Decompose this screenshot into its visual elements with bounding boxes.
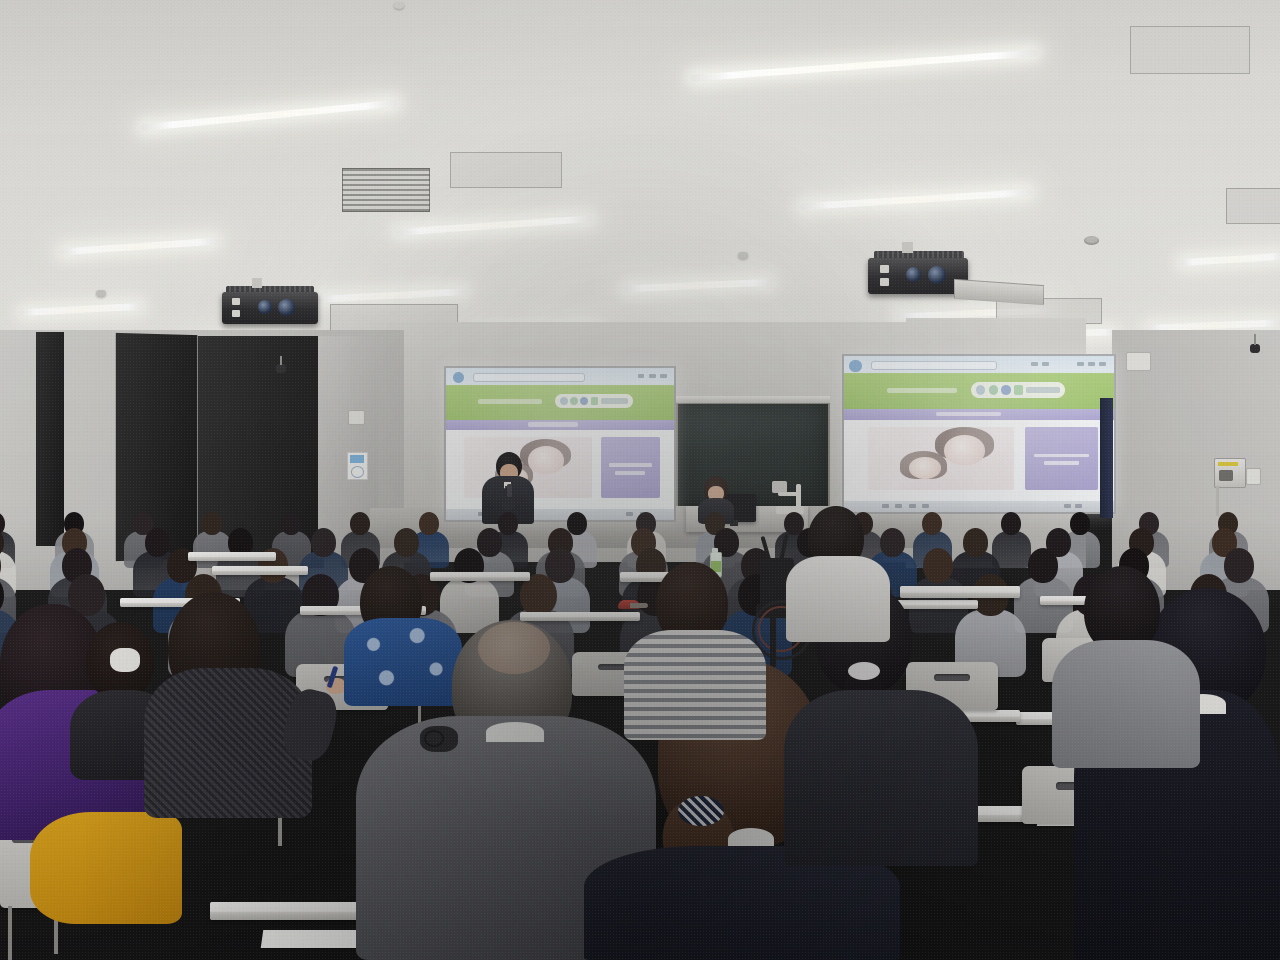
wall-notice-sign — [347, 452, 368, 480]
wall-camera-left — [276, 364, 286, 373]
projection-screen-right — [842, 354, 1116, 514]
site-body-right — [844, 420, 1114, 512]
plant-icon[interactable] — [1014, 385, 1023, 394]
audience-head — [145, 528, 170, 557]
audience-head — [202, 512, 222, 535]
windows-taskbar-right[interactable] — [844, 501, 1114, 512]
site-header-band-left — [446, 385, 674, 420]
sprinkler-3 — [96, 290, 106, 297]
blackboard-top-rail — [672, 396, 830, 403]
vent-panel-far-right — [1226, 188, 1280, 224]
attendee-yellow-skirt — [30, 812, 182, 924]
wall-outlet-plate — [1246, 468, 1261, 485]
phone-cord — [1216, 486, 1219, 516]
desk-midfield — [430, 572, 530, 581]
accent-bar-right — [844, 409, 1114, 420]
security-camera-right — [1250, 344, 1260, 353]
audience-head — [567, 512, 587, 535]
projection-screen-left — [444, 366, 676, 522]
site-nav-pill-right[interactable] — [971, 382, 1066, 397]
hero-photo-right — [868, 427, 1014, 490]
desk-midfield — [520, 612, 640, 621]
desk-row6-c — [900, 586, 1020, 598]
lecture-hall-photo — [0, 0, 1280, 960]
hero-sidebar-right — [1025, 427, 1098, 490]
paper-front-center — [261, 930, 360, 948]
wall-speaker-panel-right — [1126, 352, 1151, 371]
plant-icon[interactable] — [591, 397, 599, 405]
nav-label — [1026, 387, 1060, 393]
circle-icon[interactable] — [976, 385, 985, 394]
emergency-phone[interactable] — [1214, 458, 1246, 488]
audience-head — [311, 528, 336, 557]
site-body-left — [446, 430, 674, 520]
site-header-band-right — [844, 373, 1114, 409]
accent-bar-left — [446, 420, 674, 431]
audience-head — [281, 512, 301, 535]
audience-head — [922, 512, 942, 535]
sprinkler-1 — [394, 2, 404, 9]
microphone — [507, 484, 512, 497]
camera-mount-right — [1254, 334, 1256, 345]
hero-sidebar-left — [601, 437, 660, 498]
audience-head — [1070, 512, 1090, 535]
document-camera-crossbar — [778, 492, 800, 496]
camera-mount-left — [280, 356, 282, 365]
audience-head — [1028, 548, 1058, 583]
audience-head — [880, 528, 905, 557]
sprinkler-2 — [738, 252, 748, 259]
audience-head — [498, 512, 518, 535]
hair-scrunchie-white — [848, 662, 880, 680]
acoustic-panel-left-1 — [36, 332, 64, 546]
browser-chrome-left — [446, 368, 674, 385]
nav-label — [601, 398, 628, 404]
audience-head — [477, 528, 502, 557]
hair-scrunchie — [678, 796, 724, 826]
screen-bezel-right — [1100, 398, 1113, 518]
glasses-lens — [424, 730, 444, 747]
flower-icon[interactable] — [570, 397, 578, 405]
document-camera-arm — [796, 484, 801, 510]
desk-row6-a — [188, 552, 276, 561]
browser-chrome-right — [844, 356, 1114, 373]
vent-louvered-left — [342, 168, 430, 212]
wall-speaker-panel-left — [348, 410, 365, 425]
vent-panel-right — [1130, 26, 1250, 74]
audience-head — [394, 528, 419, 557]
face-mask — [110, 648, 140, 672]
audience-head — [350, 512, 370, 535]
ceiling-speaker-1 — [1084, 236, 1099, 245]
bottle-icon[interactable] — [580, 397, 588, 405]
site-nav-pill-left[interactable] — [555, 394, 633, 409]
circle-icon[interactable] — [560, 397, 568, 405]
audience-head — [963, 528, 988, 557]
audience-head — [1001, 512, 1021, 535]
desk-midfield — [212, 566, 308, 575]
audience-head — [419, 512, 439, 535]
vent-panel-left — [450, 152, 562, 188]
audience-head — [923, 548, 953, 583]
audience-head — [1224, 548, 1254, 583]
flower-icon[interactable] — [989, 385, 998, 394]
bottle-icon[interactable] — [1001, 385, 1010, 394]
cap-brim — [630, 603, 648, 608]
